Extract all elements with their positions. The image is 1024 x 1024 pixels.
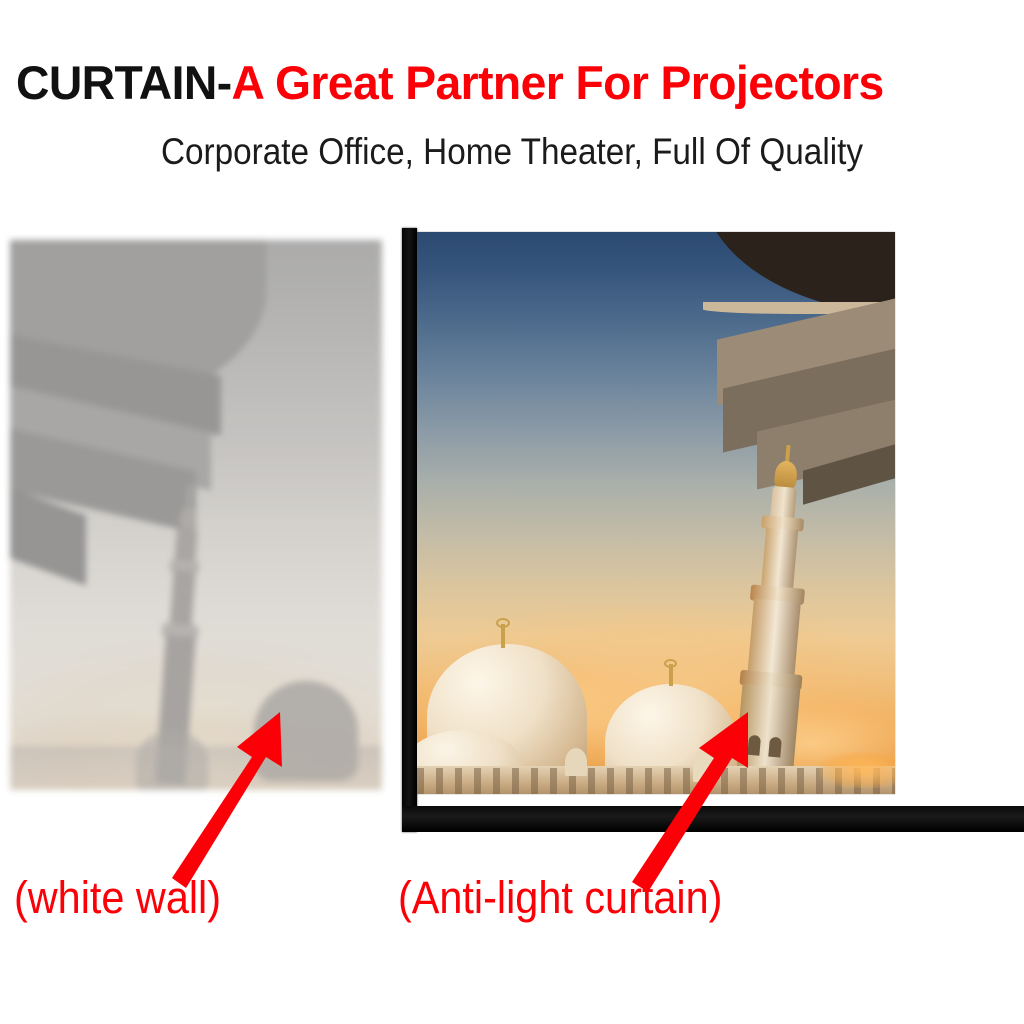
left-projection-white-wall bbox=[10, 240, 382, 790]
right-dome-large-ring bbox=[496, 618, 510, 628]
comparison-panels: (white wall) (Anti-light curtain) bbox=[0, 0, 1024, 1024]
right-cloud-wisp bbox=[819, 752, 895, 788]
right-scene bbox=[417, 232, 895, 794]
right-projection-anti-light-curtain bbox=[417, 232, 895, 794]
right-small-turret-b bbox=[693, 752, 717, 782]
minaret-base-window-b bbox=[768, 737, 782, 758]
left-panel-caption: (white wall) bbox=[14, 873, 221, 923]
right-small-turret-a bbox=[565, 748, 587, 776]
curtain-frame-bottom-bar bbox=[402, 806, 1024, 832]
screenshot-root: CURTAIN-A Great Partner For Projectors C… bbox=[0, 0, 1024, 1024]
left-base-row bbox=[10, 746, 382, 790]
curtain-frame-left-bar bbox=[402, 228, 417, 832]
minaret-shaft-2 bbox=[747, 599, 800, 679]
right-panel-caption: (Anti-light curtain) bbox=[398, 873, 722, 923]
right-dome-second-ring bbox=[664, 659, 677, 668]
left-scene bbox=[10, 240, 382, 790]
minaret-shaft-1 bbox=[761, 527, 798, 592]
minaret-base-window-a bbox=[747, 735, 761, 756]
